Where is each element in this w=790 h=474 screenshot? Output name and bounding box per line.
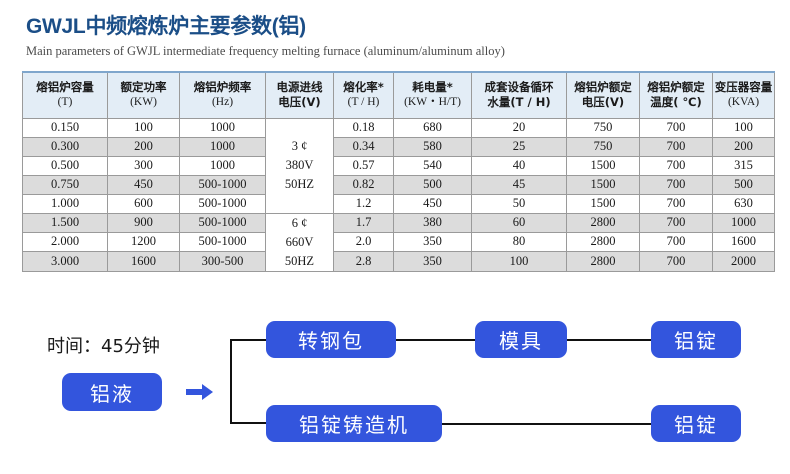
col-header-rated-voltage-unit: 电压(V) — [568, 95, 638, 110]
cell-transformer: 1000 — [713, 213, 775, 232]
cell-frequency: 1000 — [180, 118, 266, 137]
table-row: 0.750 450 500-1000 0.82 500 45 1500 700 … — [23, 175, 775, 194]
connector-caster-to-ingot — [438, 423, 656, 425]
cell-frequency: 500-1000 — [180, 232, 266, 251]
flow-node-ingot-casting-machine[interactable]: 铝锭铸造机 — [266, 405, 442, 442]
col-header-power: 额定功率 (KW) — [108, 72, 180, 118]
cell-transformer: 100 — [713, 118, 775, 137]
cell-transformer: 200 — [713, 137, 775, 156]
page-subtitle: Main parameters of GWJL intermediate fre… — [26, 42, 505, 60]
col-header-melt-rate: 熔化率* (T / H) — [334, 72, 394, 118]
col-header-rated-temp: 熔铝炉额定 温度( ℃) — [640, 72, 713, 118]
cell-rated-voltage: 750 — [567, 118, 640, 137]
connector-mould-to-ingot — [562, 339, 656, 341]
cell-rated-temp: 700 — [640, 156, 713, 175]
table-row: 2.000 1200 500-1000 2.0 350 80 2800 700 … — [23, 232, 775, 251]
cell-water: 80 — [472, 232, 567, 251]
cell-consumption: 580 — [394, 137, 472, 156]
cell-capacity: 0.300 — [23, 137, 108, 156]
supply-voltage-value: 660V — [266, 233, 333, 252]
title-block: GWJL中频熔炼炉主要参数(铝) Main parameters of GWJL… — [26, 14, 505, 60]
flow-node-ingot-top-label: 铝锭 — [674, 325, 718, 354]
flow-node-ladle[interactable]: 转钢包 — [266, 321, 396, 358]
col-header-power-cn: 额定功率 — [109, 80, 178, 95]
cell-transformer: 1600 — [713, 232, 775, 251]
parameters-table: 熔铝炉容量 (T) 额定功率 (KW) 熔铝炉频率 (Hz) 电源进线 电压(V… — [22, 71, 775, 272]
cell-melt-rate: 1.2 — [334, 194, 394, 213]
cell-rated-voltage: 2800 — [567, 213, 640, 232]
cell-power: 450 — [108, 175, 180, 194]
cell-rated-temp: 700 — [640, 175, 713, 194]
cell-melt-rate: 0.34 — [334, 137, 394, 156]
cell-capacity: 1.000 — [23, 194, 108, 213]
cell-rated-voltage: 1500 — [567, 156, 640, 175]
cell-power: 600 — [108, 194, 180, 213]
cell-supply-voltage-group-2: 6 ¢ 660V 50HZ — [266, 213, 334, 271]
col-header-rated-voltage: 熔铝炉额定 电压(V) — [567, 72, 640, 118]
cell-melt-rate: 1.7 — [334, 213, 394, 232]
col-header-water: 成套设备循环 水量(T / H) — [472, 72, 567, 118]
supply-voltage-phase: 3 ¢ — [266, 137, 333, 156]
cell-consumption: 350 — [394, 232, 472, 251]
cell-water: 100 — [472, 252, 567, 271]
flow-node-ingot-top[interactable]: 铝锭 — [651, 321, 741, 358]
cell-power: 1600 — [108, 252, 180, 271]
flow-node-aluminum-liquid[interactable]: 铝液 — [62, 373, 162, 411]
col-header-power-unit: (KW) — [109, 95, 178, 110]
table-row: 0.150 100 1000 3 ¢ 380V 50HZ 0.18 680 20… — [23, 118, 775, 137]
cell-consumption: 350 — [394, 252, 472, 271]
cell-power: 1200 — [108, 232, 180, 251]
col-header-melt-rate-cn: 熔化率* — [335, 80, 392, 95]
col-header-capacity: 熔铝炉容量 (T) — [23, 72, 108, 118]
col-header-consumption-unit: (KW・H/T) — [395, 95, 470, 110]
col-header-melt-rate-unit: (T / H) — [335, 95, 392, 110]
connector-bracket-vertical — [230, 339, 232, 424]
cell-frequency: 500-1000 — [180, 194, 266, 213]
supply-voltage-value: 380V — [266, 156, 333, 175]
time-label: 时间：45分钟 — [47, 332, 160, 358]
table-row: 1.000 600 500-1000 1.2 450 50 1500 700 6… — [23, 194, 775, 213]
flow-node-mould[interactable]: 模具 — [475, 321, 567, 358]
cell-consumption: 500 — [394, 175, 472, 194]
cell-frequency: 300-500 — [180, 252, 266, 271]
col-header-supply-voltage-cn: 电源进线 — [267, 80, 332, 95]
col-header-supply-voltage: 电源进线 电压(V) — [266, 72, 334, 118]
cell-melt-rate: 2.0 — [334, 232, 394, 251]
cell-capacity: 0.750 — [23, 175, 108, 194]
col-header-transformer: 变压器容量 (KVA) — [713, 72, 775, 118]
supply-voltage-hz: 50HZ — [266, 252, 333, 271]
col-header-frequency: 熔铝炉频率 (Hz) — [180, 72, 266, 118]
cell-rated-voltage: 1500 — [567, 194, 640, 213]
flow-node-ingot-bottom-label: 铝锭 — [674, 409, 718, 438]
col-header-consumption-cn: 耗电量* — [395, 80, 470, 95]
cell-rated-voltage: 2800 — [567, 252, 640, 271]
col-header-capacity-cn: 熔铝炉容量 — [24, 80, 106, 95]
flow-node-ingot-casting-machine-label: 铝锭铸造机 — [299, 409, 409, 438]
cell-melt-rate: 0.18 — [334, 118, 394, 137]
table-row: 3.000 1600 300-500 2.8 350 100 2800 700 … — [23, 252, 775, 271]
col-header-frequency-unit: (Hz) — [181, 95, 264, 110]
cell-power: 900 — [108, 213, 180, 232]
cell-frequency: 500-1000 — [180, 175, 266, 194]
page-root: GWJL中频熔炼炉主要参数(铝) Main parameters of GWJL… — [0, 0, 790, 474]
cell-rated-voltage: 750 — [567, 137, 640, 156]
cell-melt-rate: 2.8 — [334, 252, 394, 271]
cell-capacity: 1.500 — [23, 213, 108, 232]
table-row: 0.300 200 1000 0.34 580 25 750 700 200 — [23, 137, 775, 156]
flow-node-aluminum-liquid-label: 铝液 — [90, 378, 134, 407]
col-header-transformer-cn: 变压器容量 — [714, 80, 773, 95]
parameters-table-wrapper: 熔铝炉容量 (T) 额定功率 (KW) 熔铝炉频率 (Hz) 电源进线 电压(V… — [22, 71, 774, 272]
cell-rated-temp: 700 — [640, 252, 713, 271]
cell-power: 200 — [108, 137, 180, 156]
cell-water: 45 — [472, 175, 567, 194]
col-header-rated-temp-cn: 熔铝炉额定 — [641, 80, 711, 95]
cell-melt-rate: 0.57 — [334, 156, 394, 175]
table-row: 1.500 900 500-1000 6 ¢ 660V 50HZ 1.7 380… — [23, 213, 775, 232]
col-header-capacity-unit: (T) — [24, 95, 106, 110]
cell-transformer: 315 — [713, 156, 775, 175]
cell-frequency: 1000 — [180, 156, 266, 175]
cell-rated-temp: 700 — [640, 213, 713, 232]
cell-consumption: 680 — [394, 118, 472, 137]
col-header-water-unit: 水量(T / H) — [473, 95, 565, 110]
cell-consumption: 540 — [394, 156, 472, 175]
cell-rated-voltage: 1500 — [567, 175, 640, 194]
cell-supply-voltage-group-1: 3 ¢ 380V 50HZ — [266, 118, 334, 213]
cell-power: 100 — [108, 118, 180, 137]
cell-capacity: 0.150 — [23, 118, 108, 137]
col-header-transformer-unit: (KVA) — [714, 95, 773, 110]
table-body: 0.150 100 1000 3 ¢ 380V 50HZ 0.18 680 20… — [23, 118, 775, 271]
col-header-rated-temp-unit: 温度( ℃) — [641, 95, 711, 110]
cell-capacity: 3.000 — [23, 252, 108, 271]
cell-capacity: 0.500 — [23, 156, 108, 175]
col-header-consumption: 耗电量* (KW・H/T) — [394, 72, 472, 118]
cell-transformer: 500 — [713, 175, 775, 194]
cell-consumption: 450 — [394, 194, 472, 213]
cell-consumption: 380 — [394, 213, 472, 232]
cell-rated-temp: 700 — [640, 194, 713, 213]
flow-node-ladle-label: 转钢包 — [298, 325, 364, 354]
cell-rated-voltage: 2800 — [567, 232, 640, 251]
supply-voltage-phase: 6 ¢ — [266, 214, 333, 233]
cell-transformer: 630 — [713, 194, 775, 213]
cell-power: 300 — [108, 156, 180, 175]
cell-water: 25 — [472, 137, 567, 156]
page-title: GWJL中频熔炼炉主要参数(铝) — [26, 14, 505, 40]
col-header-rated-voltage-cn: 熔铝炉额定 — [568, 80, 638, 95]
connector-ladle-to-mould — [392, 339, 480, 341]
col-header-supply-voltage-unit: 电压(V) — [267, 95, 332, 110]
flow-node-ingot-bottom[interactable]: 铝锭 — [651, 405, 741, 442]
cell-transformer: 2000 — [713, 252, 775, 271]
cell-water: 20 — [472, 118, 567, 137]
cell-rated-temp: 700 — [640, 137, 713, 156]
cell-water: 60 — [472, 213, 567, 232]
col-header-water-cn: 成套设备循环 — [473, 80, 565, 95]
cell-rated-temp: 700 — [640, 232, 713, 251]
col-header-frequency-cn: 熔铝炉频率 — [181, 80, 264, 95]
arrow-right-icon — [186, 383, 214, 401]
flow-node-mould-label: 模具 — [499, 325, 543, 354]
cell-frequency: 1000 — [180, 137, 266, 156]
table-header-row: 熔铝炉容量 (T) 额定功率 (KW) 熔铝炉频率 (Hz) 电源进线 电压(V… — [23, 72, 775, 118]
cell-melt-rate: 0.82 — [334, 175, 394, 194]
supply-voltage-hz: 50HZ — [266, 175, 333, 194]
cell-rated-temp: 700 — [640, 118, 713, 137]
cell-water: 50 — [472, 194, 567, 213]
cell-water: 40 — [472, 156, 567, 175]
cell-frequency: 500-1000 — [180, 213, 266, 232]
cell-capacity: 2.000 — [23, 232, 108, 251]
table-row: 0.500 300 1000 0.57 540 40 1500 700 315 — [23, 156, 775, 175]
